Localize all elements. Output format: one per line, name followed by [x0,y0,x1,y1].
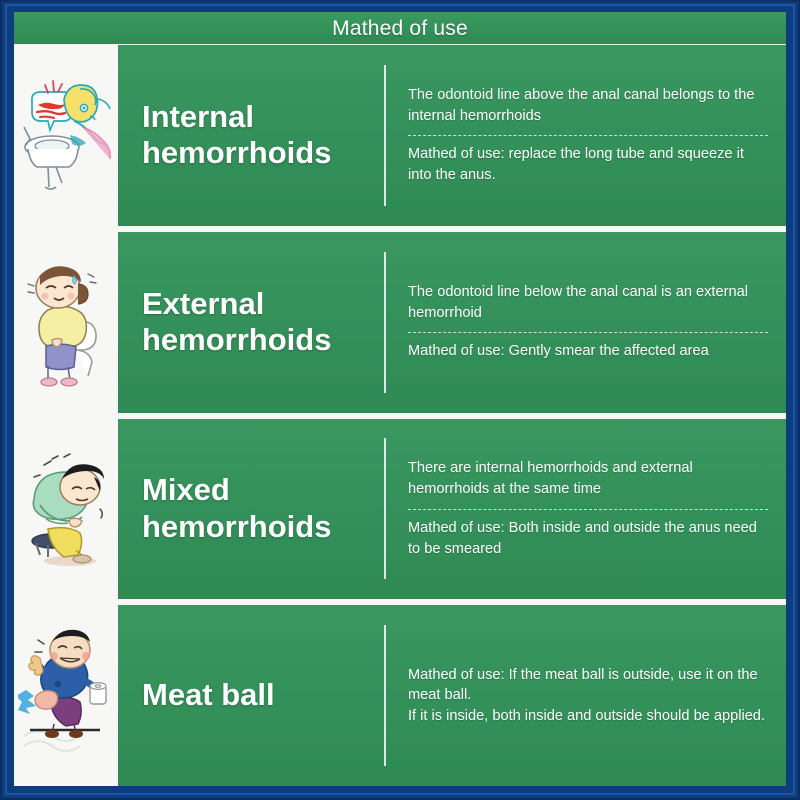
card-definition: There are internal hemorrhoids and exter… [408,458,768,499]
card-external-hemorrhoids[interactable]: External hemorrhoids The odontoid line b… [118,232,786,413]
card-title: Mixed hemorrhoids [142,472,331,545]
card-method: Mathed of use: Both inside and outside t… [408,518,768,559]
card-stack: Internal hemorrhoids The odontoid line a… [118,45,786,786]
illustration-rail [14,45,118,786]
card-description-column: There are internal hemorrhoids and exter… [386,419,786,600]
card-definition: The odontoid line above the anal canal b… [408,85,768,126]
dashed-divider [408,332,768,333]
card-title-column: Internal hemorrhoids [118,45,386,226]
card-title-column: Meat ball [118,605,386,786]
man-holding-toilet-paper-illustration [18,618,114,768]
card-title-column: External hemorrhoids [118,232,386,413]
card-title: External hemorrhoids [142,286,331,359]
card-method: Mathed of use: If the meat ball is outsi… [408,665,768,727]
card-meat-ball[interactable]: Meat ball Mathed of use: If the meat bal… [118,605,786,786]
card-title: Internal hemorrhoids [142,99,331,172]
card-description-column: The odontoid line below the anal canal i… [386,232,786,413]
card-definition: The odontoid line below the anal canal i… [408,282,768,323]
illustration-cell [14,601,118,786]
dashed-divider [408,509,768,510]
illustration-cell [14,45,118,230]
person-on-toilet-with-blood-illustration [18,63,114,213]
infographic-poster: Mathed of use [0,0,800,800]
illustration-cell [14,416,118,601]
card-method: Mathed of use: replace the long tube and… [408,144,768,185]
dashed-divider [408,135,768,136]
card-mixed-hemorrhoids[interactable]: Mixed hemorrhoids There are internal hem… [118,419,786,600]
poster-page: Mathed of use [14,12,786,786]
poster-body: Internal hemorrhoids The odontoid line a… [14,45,786,786]
illustration-cell [14,230,118,415]
man-hunched-in-pain-illustration [18,433,114,583]
card-internal-hemorrhoids[interactable]: Internal hemorrhoids The odontoid line a… [118,45,786,226]
card-description-column: The odontoid line above the anal canal b… [386,45,786,226]
woman-straining-on-toilet-illustration [18,248,114,398]
card-title-column: Mixed hemorrhoids [118,419,386,600]
poster-header: Mathed of use [14,12,786,45]
card-description-column: Mathed of use: If the meat ball is outsi… [386,605,786,786]
page-title: Mathed of use [332,18,468,39]
card-title: Meat ball [142,677,275,714]
card-method: Mathed of use: Gently smear the affected… [408,341,768,362]
